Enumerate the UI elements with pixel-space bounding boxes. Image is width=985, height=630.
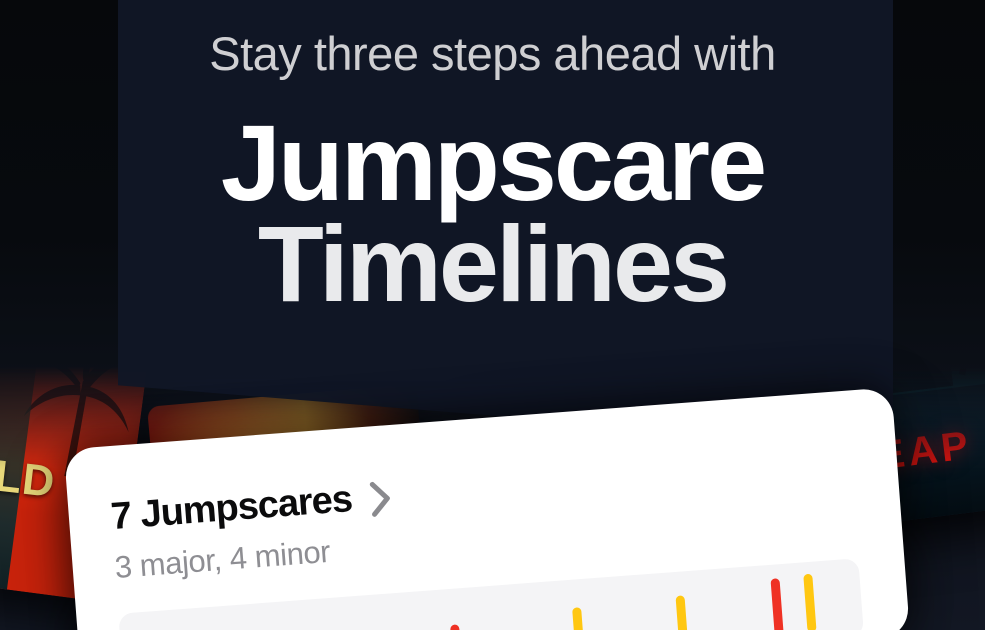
timeline-marker-major[interactable] <box>770 578 783 630</box>
timeline-marker-major[interactable] <box>450 624 462 630</box>
headline-backdrop <box>118 0 893 448</box>
chevron-right-icon[interactable] <box>369 480 394 518</box>
promo-screenshot-stage: D HELD <box>0 0 985 630</box>
jumpscare-card-header[interactable]: 7 Jumpscares <box>109 475 393 539</box>
jumpscare-count-label: 7 Jumpscares <box>109 478 353 539</box>
timeline-marker-minor[interactable] <box>804 574 817 630</box>
timeline-marker-minor[interactable] <box>572 607 584 630</box>
timeline-marker-minor[interactable] <box>675 595 687 630</box>
jumpscare-breakdown-label: 3 major, 4 minor <box>113 534 331 586</box>
